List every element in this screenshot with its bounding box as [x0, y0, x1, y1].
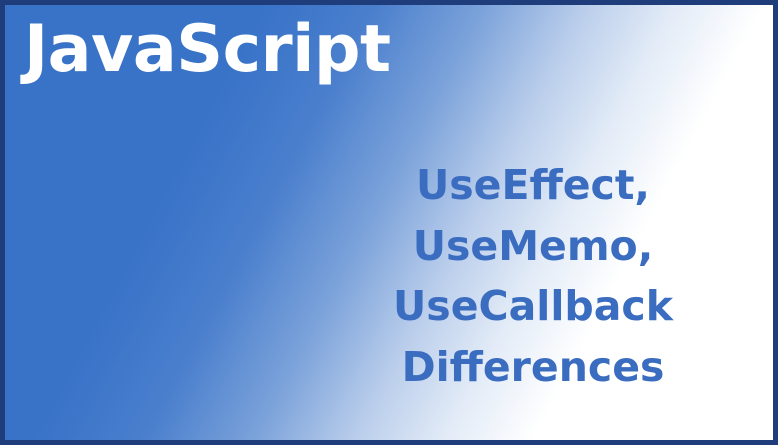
subtitle-list: UseEffect, UseMemo, UseCallback Differen… — [323, 155, 743, 398]
subtitle-line-4: Differences — [323, 337, 743, 398]
subtitle-line-2: UseMemo, — [323, 216, 743, 277]
subtitle-line-3: UseCallback — [323, 276, 743, 337]
page-title: JavaScript — [24, 13, 391, 88]
subtitle-line-1: UseEffect, — [323, 155, 743, 216]
banner-content: JavaScript UseEffect, UseMemo, UseCallba… — [5, 5, 773, 440]
javascript-banner: JavaScript UseEffect, UseMemo, UseCallba… — [0, 0, 778, 445]
